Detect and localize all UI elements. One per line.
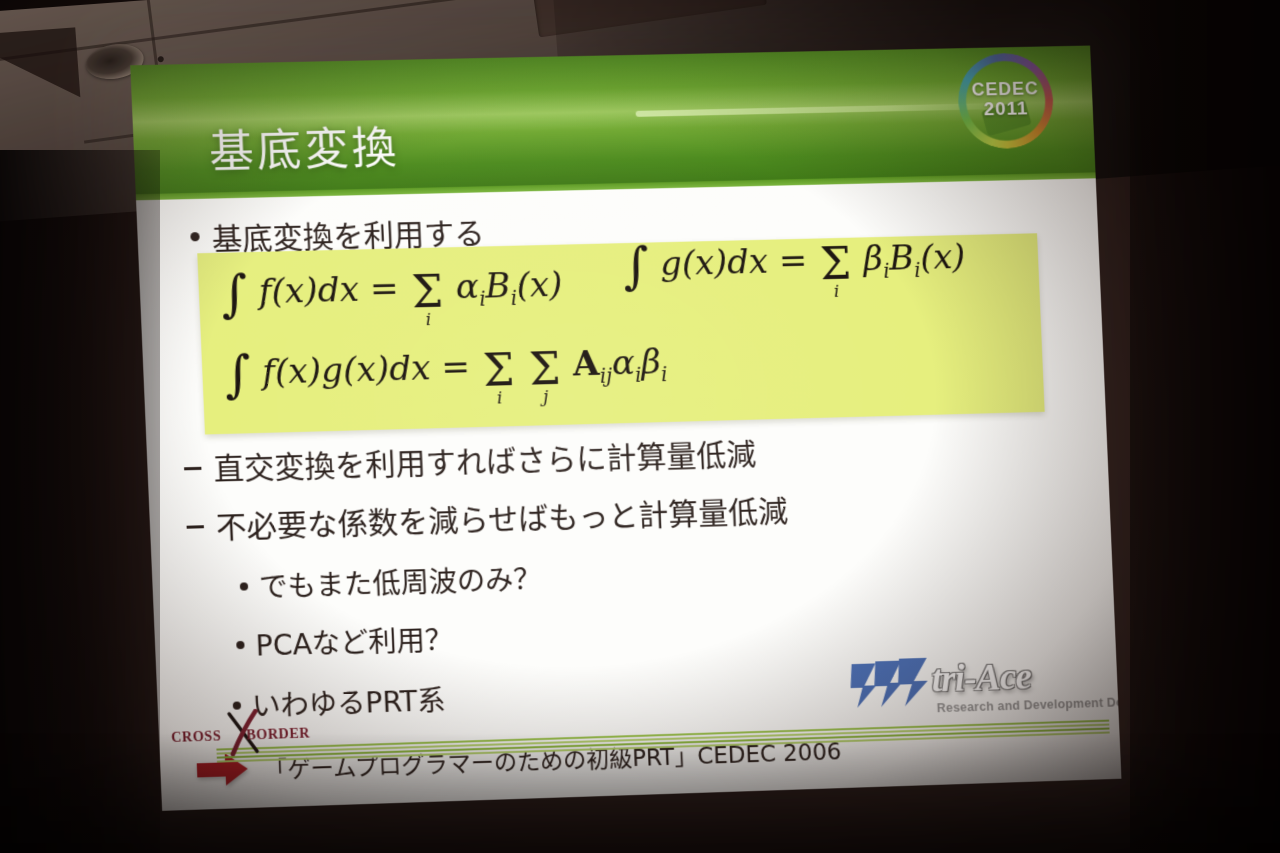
sigma-sum-icon: Σ i <box>819 248 852 302</box>
sigma-index: i <box>834 284 840 301</box>
bullet-level3-0-label: でもまた低周波のみ？ <box>258 558 542 607</box>
wall-right-shadow <box>1130 0 1280 853</box>
integral-sign-icon: ∫ <box>220 264 249 323</box>
sigma-index: i <box>425 312 431 329</box>
equation-g-equals: = <box>778 241 819 282</box>
floor-shadow <box>0 733 1280 853</box>
presentation-slide: 基底変換 CEDEC 2011 基底変換を利用する ∫ <box>130 46 1121 811</box>
ceiling-corner-shadow <box>0 27 80 106</box>
tri-ace-mark-icon <box>849 656 935 712</box>
bullet-level2-1: 不必要な係数を減らせばもっと計算量低減 <box>186 487 789 548</box>
ceiling-sensor-icon <box>158 56 164 62</box>
bullet-dot-icon <box>233 701 241 709</box>
bullet-level3-1: PCAなど利用？ <box>235 618 453 665</box>
equation-f-rhs: αiBi(x) <box>455 265 563 308</box>
equation-f: ∫ f(x)dx = Σ i αiBi(x) <box>220 257 564 335</box>
projection-screen: 基底変換 CEDEC 2011 基底変換を利用する ∫ <box>130 46 1121 811</box>
room-photograph: 基底変換 CEDEC 2011 基底変換を利用する ∫ <box>0 0 1280 853</box>
equation-fg-rhs: Aijαiβi <box>572 342 668 384</box>
equation-g-rhs: βiBi(x) <box>863 237 967 279</box>
equation-fg-lhs: f(x)g(x)dx <box>261 348 431 393</box>
integral-sign-icon: ∫ <box>622 237 651 296</box>
bullet-level2-0-label: 直交変換を利用すればさらに計算量低減 <box>213 430 757 489</box>
tri-ace-logo: tri-Ace Research and Development Departm… <box>849 647 1099 732</box>
equation-fg-equals: = <box>440 347 481 388</box>
bullet-level3-1-label: PCAなど利用？ <box>255 618 454 664</box>
equation-f-lhs: f(x)dx <box>258 270 360 313</box>
equation-fg: ∫ f(x)g(x)dx = Σ i Σ j Aijαiβi <box>224 334 669 415</box>
bullet-dash-icon <box>184 467 201 470</box>
tri-ace-name: tri-Ace <box>931 655 1032 702</box>
sigma-sum-icon: Σ i <box>482 354 516 408</box>
equation-g: ∫ g(x)dx = Σ i βiBi(x) <box>622 229 967 306</box>
bullet-level2-1-label: 不必要な係数を減らせばもっと計算量低減 <box>215 487 789 547</box>
slide-body: 基底変換を利用する ∫ f(x)dx = Σ i αiBi(x) <box>136 172 1122 811</box>
equation-f-equals: = <box>369 268 410 309</box>
equation-box: ∫ f(x)dx = Σ i αiBi(x) ∫ g(x)dx = <box>197 233 1044 434</box>
bullet-dash-icon <box>187 525 204 529</box>
bullet-level2-0: 直交変換を利用すればさらに計算量低減 <box>183 430 757 490</box>
cedec-logo-text-bottom: 2011 <box>958 98 1054 122</box>
sigma-index: j <box>543 389 549 406</box>
bullet-dot-icon <box>190 232 200 241</box>
sigma-sum-icon: Σ i <box>411 276 445 330</box>
integral-sign-icon: ∫ <box>224 345 253 404</box>
bullet-dot-icon <box>240 582 248 590</box>
bullet-dot-icon <box>236 641 244 649</box>
bullet-level3-0: でもまた低周波のみ？ <box>239 558 542 607</box>
sigma-sum-icon: Σ j <box>528 353 561 407</box>
sigma-index: i <box>497 391 503 408</box>
header-accent-line <box>636 103 998 117</box>
page-title: 基底変換 <box>208 112 401 180</box>
cedec-logo: CEDEC 2011 <box>956 52 1055 149</box>
equation-g-lhs: g(x)dx <box>659 242 769 285</box>
slide-header-band: 基底変換 CEDEC 2011 <box>130 46 1095 195</box>
